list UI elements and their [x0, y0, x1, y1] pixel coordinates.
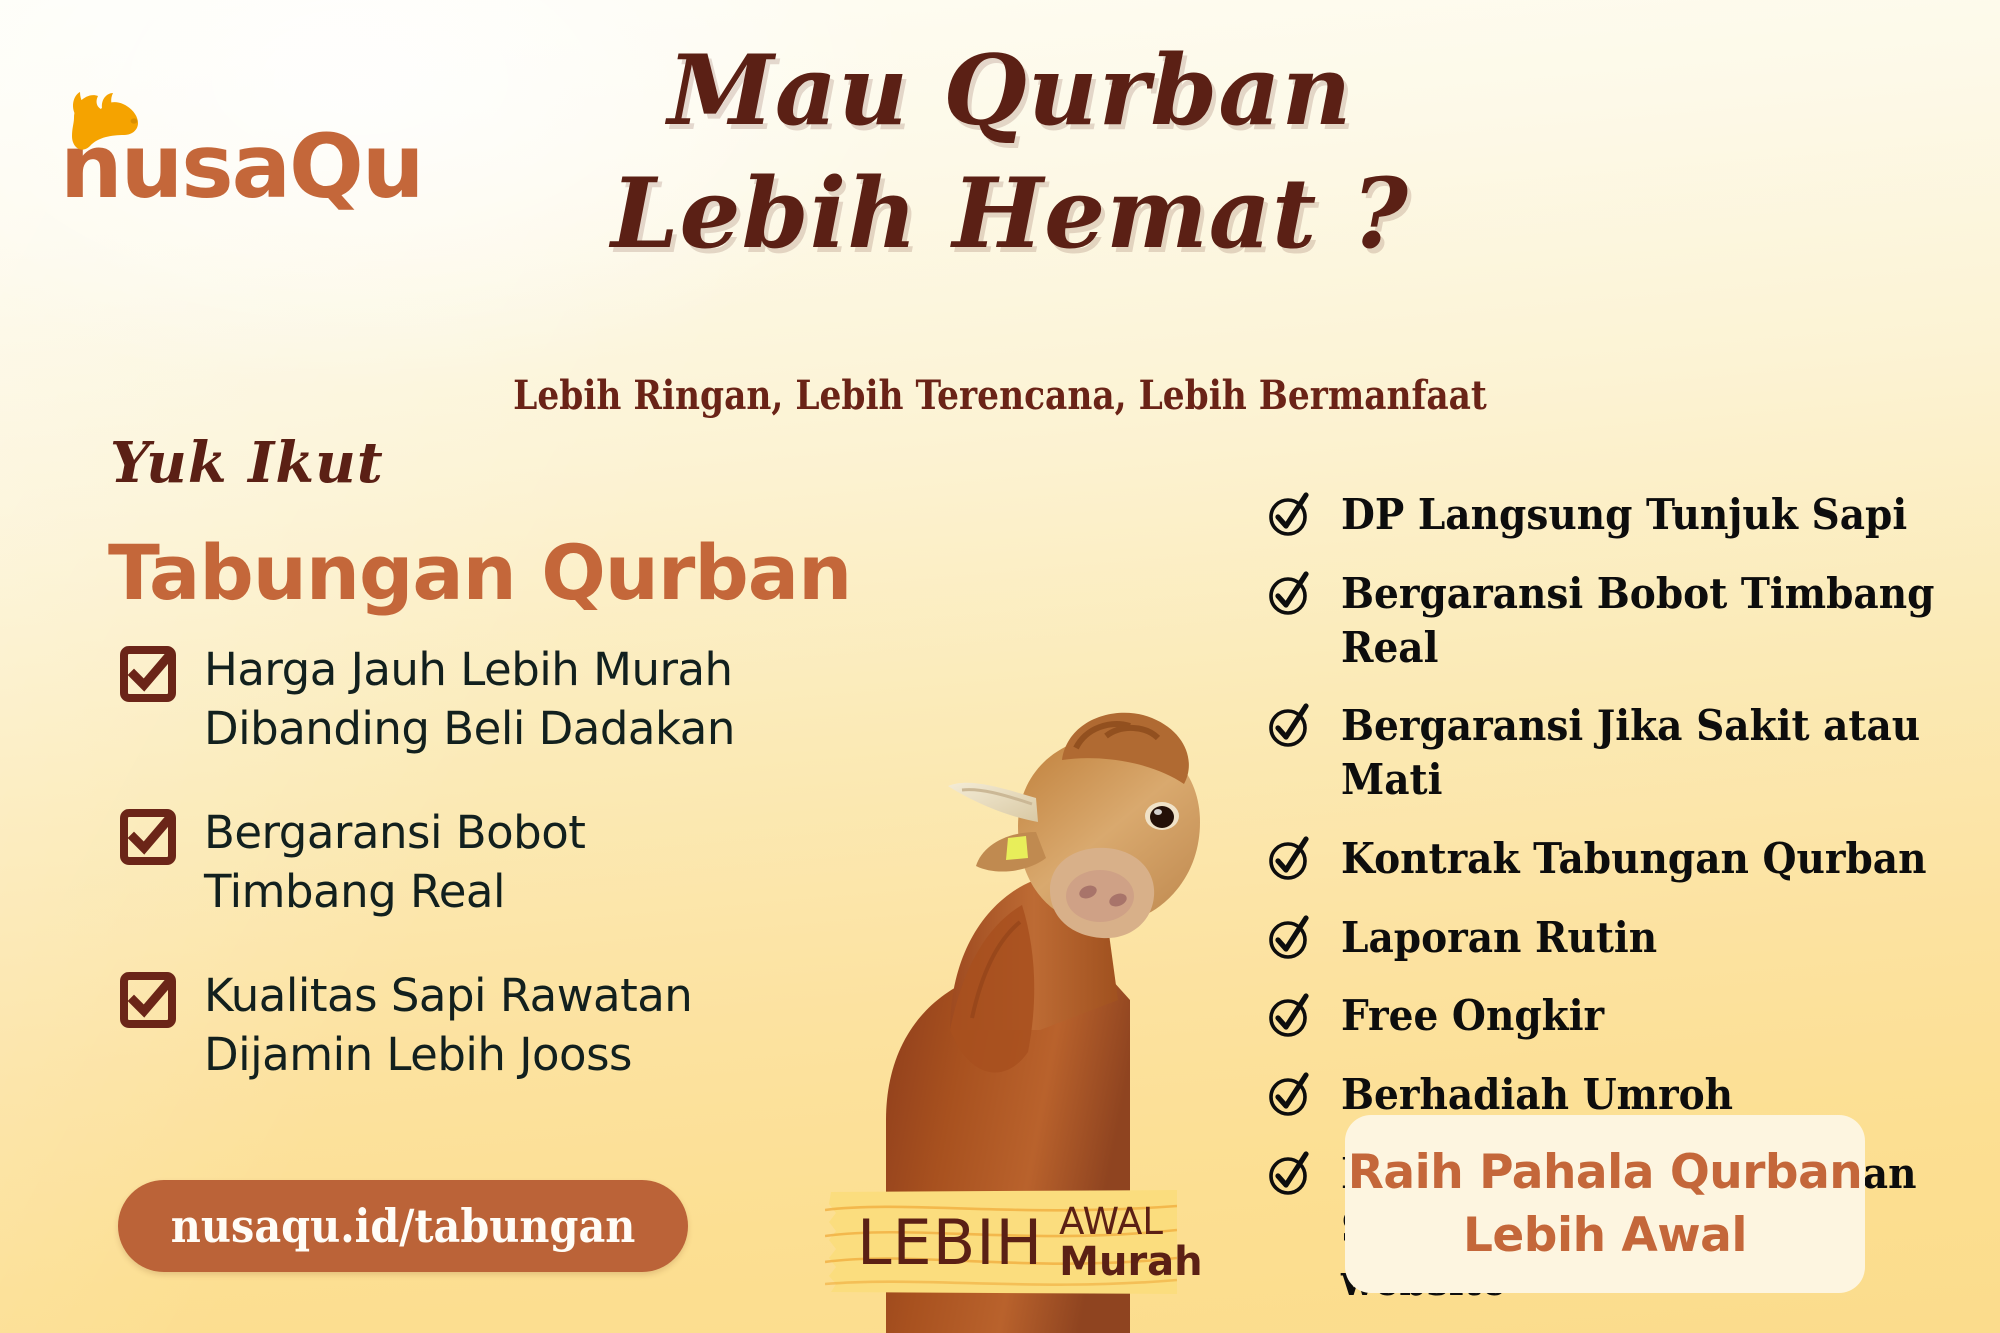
bull-head-icon — [68, 90, 146, 156]
circle-check-icon — [1265, 703, 1311, 749]
circle-check-icon — [1265, 1072, 1311, 1118]
list-item: Harga Jauh Lebih Murah Dibanding Beli Da… — [120, 640, 840, 759]
list-item: Kontrak Tabungan Qurban — [1265, 832, 1985, 886]
circle-check-icon — [1265, 993, 1311, 1039]
headline-line-2: Lebih Hemat ? — [480, 153, 1540, 276]
list-item-line-1: Bergaransi Bobot Timbang Real — [1341, 567, 1940, 675]
tape-banner-labels: LEBIH AWAL Murah — [825, 1188, 1177, 1296]
list-item: Free Ongkir — [1265, 989, 1985, 1043]
list-item-line-1: Berhadiah Umroh — [1341, 1068, 1733, 1122]
checkbox-checked-icon — [120, 809, 176, 865]
list-item: Bergaransi Jika Sakit atau Mati — [1265, 699, 1985, 807]
left-eyebrow: Yuk Ikut — [110, 430, 384, 496]
list-item: Bergaransi Bobot Timbang Real — [1265, 567, 1985, 675]
left-feature-list: Harga Jauh Lebih Murah Dibanding Beli Da… — [120, 640, 840, 1128]
list-item: Laporan Rutin — [1265, 911, 1985, 965]
list-item: Bergaransi Bobot Timbang Real — [120, 803, 840, 922]
list-item-line-2: Dibanding Beli Dadakan — [204, 699, 735, 758]
cta-line-2: Lebih Awal — [1463, 1204, 1747, 1267]
list-item-line-2: Timbang Real — [204, 862, 585, 921]
list-item-line-1: Kontrak Tabungan Qurban — [1341, 832, 1927, 886]
circle-check-icon — [1265, 1151, 1311, 1197]
checkbox-checked-icon — [120, 972, 176, 1028]
brand-logo[interactable]: nusaQu — [60, 98, 423, 208]
tape-murah-label: Murah — [1059, 1242, 1202, 1282]
list-item-line-1: Kualitas Sapi Rawatan — [204, 966, 692, 1025]
cta-box[interactable]: Raih Pahala Qurban Lebih Awal — [1345, 1115, 1865, 1293]
circle-check-icon — [1265, 492, 1311, 538]
circle-check-icon — [1265, 836, 1311, 882]
left-title: Tabungan Qurban — [108, 528, 851, 617]
tape-main-label: LEBIH — [857, 1206, 1043, 1279]
promo-poster: nusaQu Mau Qurban Lebih Hemat ? Lebih Ri… — [0, 0, 2000, 1333]
list-item: Kualitas Sapi Rawatan Dijamin Lebih Joos… — [120, 966, 840, 1085]
circle-check-icon — [1265, 915, 1311, 961]
headline-subtitle: Lebih Ringan, Lebih Terencana, Lebih Ber… — [484, 372, 1516, 419]
list-item: DP Langsung Tunjuk Sapi — [1265, 488, 1985, 542]
tape-awal-label: AWAL — [1059, 1203, 1202, 1240]
url-button[interactable]: nusaqu.id/tabungan — [118, 1180, 688, 1272]
url-button-label: nusaqu.id/tabungan — [171, 1199, 636, 1253]
list-item-line-1: Bergaransi Bobot — [204, 803, 585, 862]
circle-check-icon — [1265, 571, 1311, 617]
cta-line-1: Raih Pahala Qurban — [1348, 1141, 1863, 1204]
checkbox-checked-icon — [120, 646, 176, 702]
list-item-line-2: Dijamin Lebih Jooss — [204, 1025, 692, 1084]
list-item-line-1: Bergaransi Jika Sakit atau Mati — [1341, 699, 1940, 807]
list-item-line-1: DP Langsung Tunjuk Sapi — [1341, 488, 1907, 542]
list-item: Berhadiah Umroh — [1265, 1068, 1985, 1122]
tape-secondary-labels: AWAL Murah — [1059, 1203, 1202, 1282]
list-item-line-1: Free Ongkir — [1341, 989, 1604, 1043]
list-item-line-1: Laporan Rutin — [1341, 911, 1657, 965]
list-item-line-1: Harga Jauh Lebih Murah — [204, 640, 735, 699]
headline: Mau Qurban Lebih Hemat ? — [480, 30, 1540, 276]
headline-line-1: Mau Qurban — [480, 30, 1540, 153]
